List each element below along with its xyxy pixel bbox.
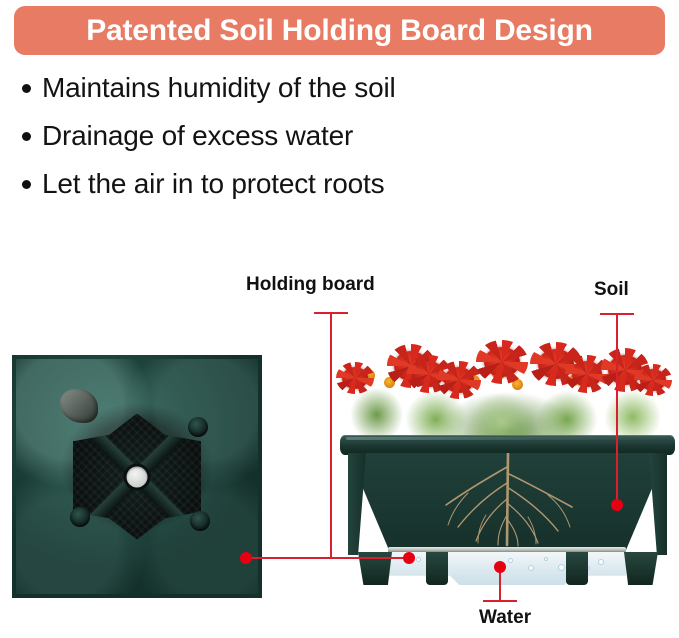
feature-list: Maintains humidity of the soil Drainage … [22, 70, 642, 214]
water-reservoir [388, 552, 626, 585]
infographic-page: Patented Soil Holding Board Design Maint… [0, 0, 679, 638]
page-title: Patented Soil Holding Board Design [86, 16, 593, 46]
marker-dot-water [494, 561, 506, 573]
water-bubble [508, 558, 513, 563]
bullet-dot-icon [22, 132, 31, 141]
pot-leg [624, 552, 658, 585]
board-boss [70, 507, 90, 527]
feature-text: Maintains humidity of the soil [42, 70, 396, 106]
list-item: Let the air in to protect roots [22, 166, 642, 202]
leader-line-holding-board-base [246, 557, 414, 559]
header-banner: Patented Soil Holding Board Design [14, 6, 665, 55]
list-item: Maintains humidity of the soil [22, 70, 642, 106]
leader-line-holding-board-stem [330, 312, 332, 558]
water-bubble [416, 557, 421, 562]
water-bubble [544, 557, 548, 561]
pot-rim [340, 435, 675, 455]
red-bloom [640, 369, 666, 391]
planter-cross-section [340, 325, 675, 585]
board-drain-hole [127, 466, 148, 487]
marker-dot-holding-board-right [403, 552, 415, 564]
board-boss [190, 511, 210, 531]
pot-leg [566, 552, 588, 585]
callout-label-soil: Soil [594, 280, 629, 299]
feature-text: Drainage of excess water [42, 118, 353, 154]
bullet-dot-icon [22, 84, 31, 93]
water-bubble [558, 564, 565, 571]
marker-dot-soil [611, 499, 623, 511]
bullet-dot-icon [22, 180, 31, 189]
red-bloom [572, 361, 602, 387]
marker-dot-holding-board-left [240, 552, 252, 564]
red-bloom [342, 367, 368, 389]
board-boss [188, 417, 208, 437]
red-bloom [444, 367, 474, 393]
list-item: Drainage of excess water [22, 118, 642, 154]
leader-line-soil-stem [616, 313, 618, 505]
water-bubble [528, 565, 534, 571]
feature-text: Let the air in to protect roots [42, 166, 384, 202]
callout-label-water: Water [479, 608, 531, 627]
callout-label-holding-board: Holding board [246, 275, 375, 294]
soil-holding-board-product [12, 355, 262, 598]
red-bloom [484, 347, 520, 377]
water-bubble [598, 559, 604, 565]
pot-leg [426, 552, 448, 585]
